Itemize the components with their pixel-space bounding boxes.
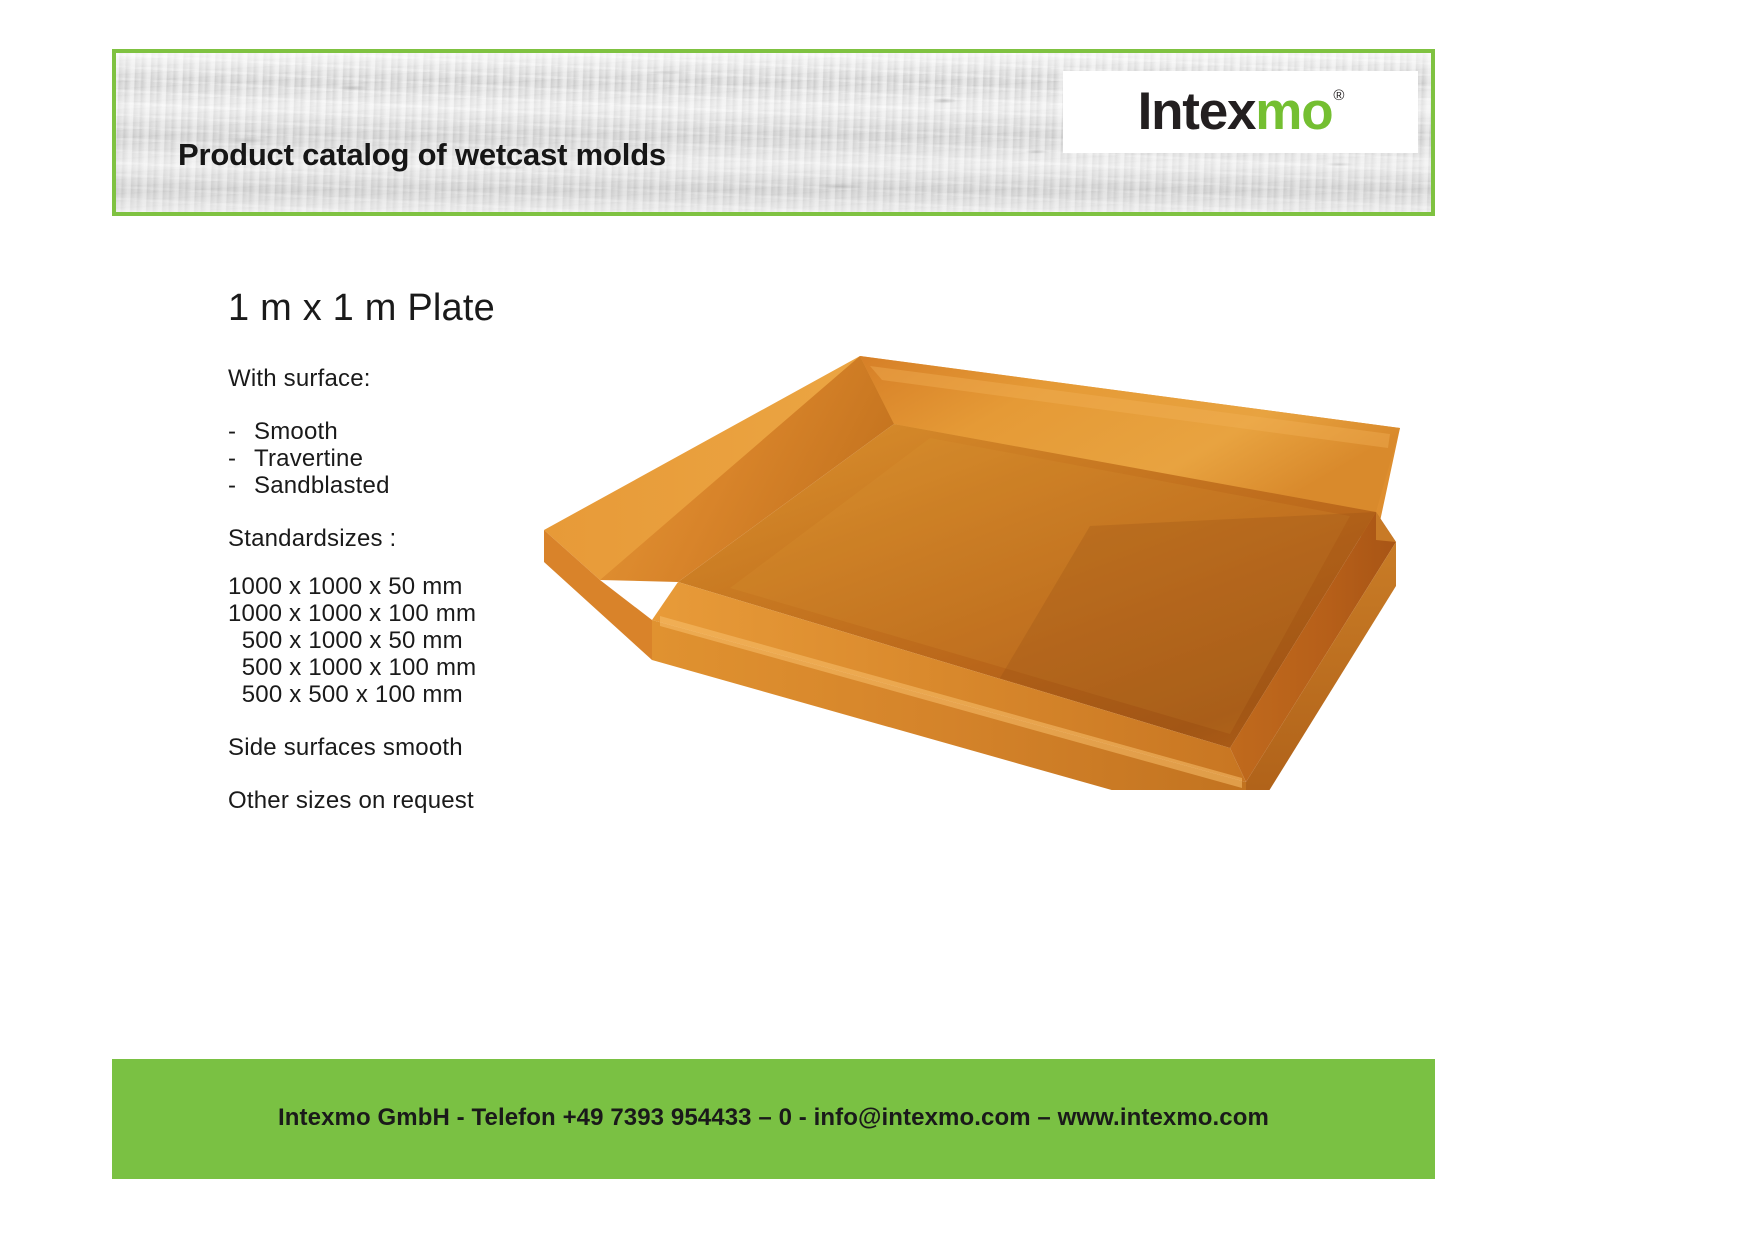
footer-bar: Intexmo GmbH - Telefon +49 7393 954433 –…: [112, 1059, 1435, 1179]
list-item: - Travertine: [228, 446, 476, 473]
list-item: 500 x 1000 x 50 mm: [228, 628, 476, 655]
list-item: 500 x 1000 x 100 mm: [228, 655, 476, 682]
list-item: - Smooth: [228, 419, 476, 446]
spacer: [228, 393, 476, 419]
product-photo: [530, 330, 1400, 790]
intexmo-logo: Intexmo®: [1063, 71, 1418, 153]
list-item: 1000 x 1000 x 50 mm: [228, 574, 476, 601]
list-item: - Sandblasted: [228, 473, 476, 500]
note-other-sizes: Other sizes on request: [228, 788, 476, 815]
surface-list: - Smooth - Travertine - Sandblasted: [228, 419, 476, 500]
page-title: Product catalog of wetcast molds: [178, 137, 666, 173]
list-item-label: Travertine: [254, 446, 363, 473]
logo-text: Intexmo®: [1138, 85, 1344, 138]
mold-right-rim-strip: [1376, 512, 1396, 542]
header-banner: Product catalog of wetcast molds Intexmo…: [112, 49, 1435, 216]
list-item: 500 x 500 x 100 mm: [228, 682, 476, 709]
dash-icon: -: [228, 446, 254, 473]
dash-icon: -: [228, 419, 254, 446]
list-item-label: Sandblasted: [254, 473, 390, 500]
spacer: [228, 762, 476, 788]
spacer: [228, 709, 476, 735]
product-specifications: With surface: - Smooth - Travertine - Sa…: [228, 366, 476, 815]
logo-dark-part: Intex: [1138, 82, 1256, 141]
list-item: 1000 x 1000 x 100 mm: [228, 601, 476, 628]
registered-trademark-icon: ®: [1333, 87, 1344, 104]
product-title: 1 m x 1 m Plate: [228, 287, 495, 330]
spacer: [228, 500, 476, 526]
standard-sizes-list: 1000 x 1000 x 50 mm 1000 x 1000 x 100 mm…: [228, 574, 476, 708]
sizes-heading: Standardsizes :: [228, 526, 476, 553]
logo-green-part: mo: [1255, 82, 1332, 141]
footer-contact-text: Intexmo GmbH - Telefon +49 7393 954433 –…: [112, 1104, 1435, 1132]
surface-heading: With surface:: [228, 366, 476, 393]
wetcast-plate-mold-illustration: [530, 330, 1400, 790]
list-item-label: Smooth: [254, 419, 338, 446]
spacer: [228, 552, 476, 574]
note-side-surfaces: Side surfaces smooth: [228, 735, 476, 762]
dash-icon: -: [228, 473, 254, 500]
